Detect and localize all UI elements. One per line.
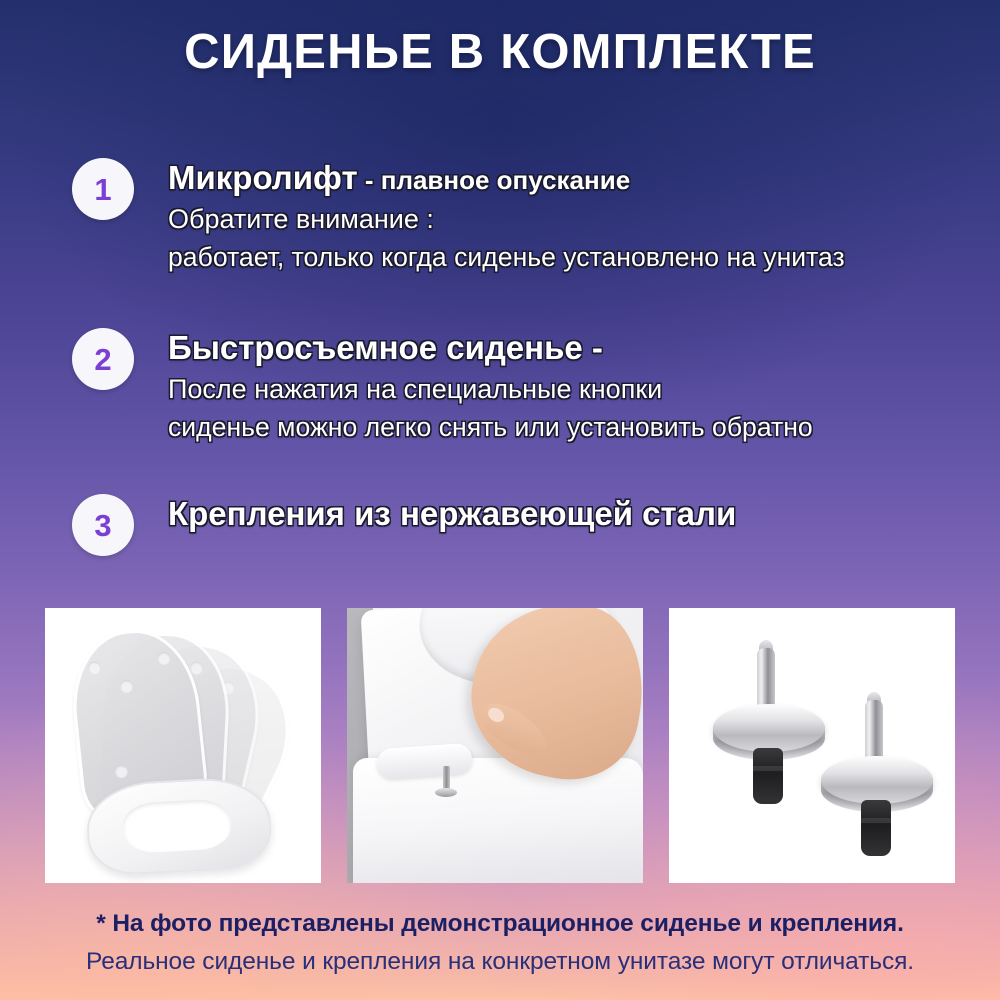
hand-releasing-seat-photo <box>347 608 643 883</box>
feature-subline-1-2: работает, только когда сиденье установле… <box>168 238 970 276</box>
seat-motion-sequence-graphic <box>45 608 321 883</box>
rubber-plug-rib-1 <box>753 766 783 771</box>
rubber-plug-rib-2 <box>861 818 891 823</box>
mounting-pin-stem-left <box>443 766 450 790</box>
feature-body-3: Крепления из нержавеющей стали <box>168 494 982 536</box>
feature-heading-3: Крепления из нержавеющей стали <box>168 494 982 536</box>
photo-row <box>45 608 955 883</box>
feature-number-badge-3: 3 <box>72 494 134 556</box>
rubber-plug-1 <box>753 748 783 804</box>
feature-subline-1-1: Обратите внимание : <box>168 200 982 238</box>
feature-heading-tail-1: - плавное опускание <box>358 165 631 195</box>
feature-heading-bold-2: Быстросъемное сиденье - <box>168 329 603 366</box>
feature-number-badge-2: 2 <box>72 328 134 390</box>
footnote-line-1: * На фото представлены демонстрационное … <box>0 910 1000 938</box>
stainless-steel-fixings-photo <box>669 608 955 883</box>
page-title: СИДЕНЬЕ В КОМПЛЕКТЕ <box>0 22 1000 82</box>
feature-subline-2-1: После нажатия на специальные кнопки <box>168 370 982 408</box>
feature-heading-2: Быстросъемное сиденье - <box>168 328 982 370</box>
feature-number-badge-1: 1 <box>72 158 134 220</box>
fixings-graphic <box>669 608 955 883</box>
seat-ring-opening <box>122 798 232 854</box>
feature-heading-bold-1: Микролифт <box>168 159 358 196</box>
rubber-plug-2 <box>861 800 891 856</box>
feature-body-2: Быстросъемное сиденье - После нажатия на… <box>168 328 982 446</box>
chrome-cap-1 <box>713 704 825 752</box>
chrome-cap-2 <box>821 756 933 804</box>
toilet-scene-graphic <box>347 608 643 883</box>
feature-body-1: Микролифт - плавное опускание Обратите в… <box>168 158 982 276</box>
feature-subline-2-2: сиденье можно легко снять или установить… <box>168 408 970 446</box>
mounting-pin-left <box>435 788 457 797</box>
fingernail <box>485 705 506 725</box>
toilet-seat-soft-close-sequence-photo <box>45 608 321 883</box>
feature-heading-bold-3: Крепления из нержавеющей стали <box>168 495 736 532</box>
footnote-line-2: Реальное сиденье и крепления на конкретн… <box>0 948 1000 976</box>
infographic-banner: СИДЕНЬЕ В КОМПЛЕКТЕ 1 Микролифт - плавно… <box>0 0 1000 1000</box>
feature-heading-1: Микролифт - плавное опускание <box>168 158 982 200</box>
